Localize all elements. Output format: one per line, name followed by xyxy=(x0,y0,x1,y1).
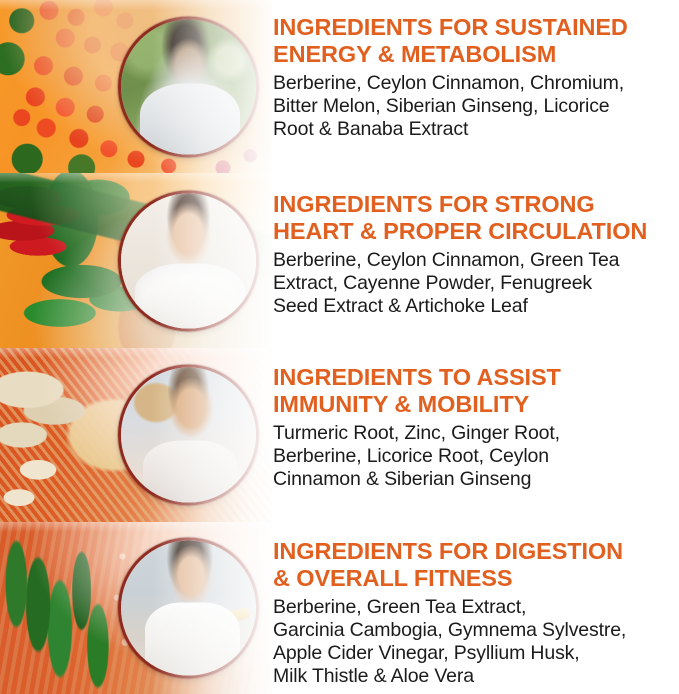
panel-heading: INGREDIENTS TO ASSIST IMMUNITY & MOBILIT… xyxy=(273,364,675,417)
media-fade-right xyxy=(152,173,272,348)
media-fade-top xyxy=(0,173,272,183)
panel-immunity-mobility: INGREDIENTS TO ASSIST IMMUNITY & MOBILIT… xyxy=(0,348,679,522)
panel-media-sustained-energy xyxy=(0,0,272,173)
panel-strong-heart: INGREDIENTS FOR STRONG HEART & PROPER CI… xyxy=(0,173,679,348)
panel-sustained-energy: INGREDIENTS FOR SUSTAINED ENERGY & METAB… xyxy=(0,0,679,173)
panel-digestion-fitness: INGREDIENTS FOR DIGESTION & OVERALL FITN… xyxy=(0,522,679,694)
panel-media-digestion-fitness xyxy=(0,522,272,694)
panel-content-strong-heart: INGREDIENTS FOR STRONG HEART & PROPER CI… xyxy=(272,173,679,348)
media-fade-top xyxy=(0,348,272,358)
panel-content-immunity-mobility: INGREDIENTS TO ASSIST IMMUNITY & MOBILIT… xyxy=(272,348,679,522)
panel-content-digestion-fitness: INGREDIENTS FOR DIGESTION & OVERALL FITN… xyxy=(272,522,679,694)
ingredients-infographic: INGREDIENTS FOR SUSTAINED ENERGY & METAB… xyxy=(0,0,679,694)
panel-ingredient-list: Turmeric Root, Zinc, Ginger Root, Berber… xyxy=(273,422,675,491)
media-fade-top xyxy=(0,0,272,10)
panel-heading: INGREDIENTS FOR DIGESTION & OVERALL FITN… xyxy=(273,538,675,591)
panel-heading: INGREDIENTS FOR SUSTAINED ENERGY & METAB… xyxy=(273,14,675,67)
panel-content-sustained-energy: INGREDIENTS FOR SUSTAINED ENERGY & METAB… xyxy=(272,0,679,173)
media-fade-top xyxy=(0,522,272,532)
media-fade-right xyxy=(152,0,272,173)
panel-ingredient-list: Berberine, Green Tea Extract, Garcinia C… xyxy=(273,596,675,688)
panel-media-immunity-mobility xyxy=(0,348,272,522)
panel-media-strong-heart xyxy=(0,173,272,348)
panel-heading: INGREDIENTS FOR STRONG HEART & PROPER CI… xyxy=(273,191,675,244)
panel-ingredient-list: Berberine, Ceylon Cinnamon, Chromium, Bi… xyxy=(273,72,675,141)
media-fade-right xyxy=(152,348,272,522)
panel-ingredient-list: Berberine, Ceylon Cinnamon, Green Tea Ex… xyxy=(273,249,675,318)
media-fade-right xyxy=(152,522,272,694)
